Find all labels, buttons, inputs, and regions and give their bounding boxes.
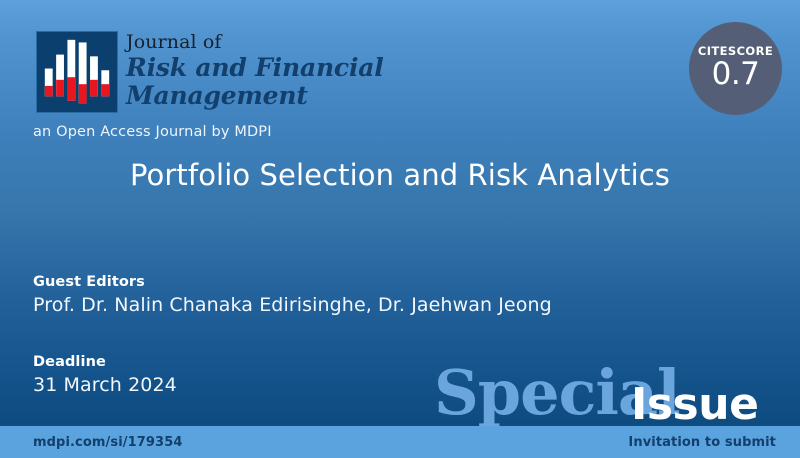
journal-title-line3: Management: [126, 82, 426, 110]
guest-editors-names: Prof. Dr. Nalin Chanaka Edirisinghe, Dr.…: [33, 294, 653, 316]
bar-chart-logo-icon: [37, 32, 117, 112]
journal-title-line1: Journal of: [126, 33, 426, 52]
banner-header: Journal of Risk and Financial Management…: [0, 0, 800, 122]
journal-logo: [36, 31, 118, 113]
journal-tagline: an Open Access Journal by MDPI: [33, 124, 272, 140]
citescore-value: 0.7: [712, 58, 760, 91]
banner-footer: mdpi.com/si/179354 Invitation to submit: [0, 426, 800, 458]
special-issue-banner: Journal of Risk and Financial Management…: [0, 0, 800, 458]
guest-editors-block: Guest Editors Prof. Dr. Nalin Chanaka Ed…: [33, 274, 653, 316]
special-issue-url[interactable]: mdpi.com/si/179354: [33, 435, 183, 450]
journal-wordmark: Journal of Risk and Financial Management: [126, 33, 426, 110]
page-title: Portfolio Selection and Risk Analytics: [0, 158, 800, 192]
special-issue-watermark: Special Issue: [0, 362, 800, 432]
journal-title-line2: Risk and Financial: [126, 54, 426, 82]
invitation-to-submit-label[interactable]: Invitation to submit: [628, 435, 776, 450]
watermark-issue-text: Issue: [631, 383, 758, 427]
citescore-badge: CITESCORE 0.7: [689, 22, 782, 115]
guest-editors-heading: Guest Editors: [33, 274, 653, 290]
